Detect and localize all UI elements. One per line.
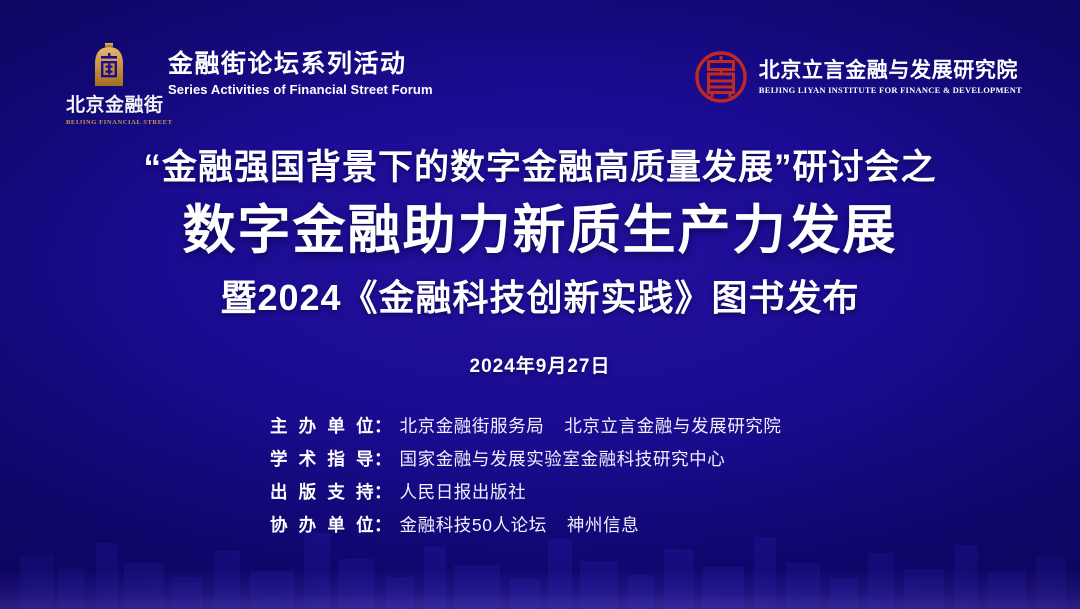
credit-label: 主办单位 — [270, 413, 374, 440]
credit-value: 人民日报出版社 — [400, 479, 527, 506]
bfs-mark: 北京金融街 BEIJING FINANCIAL STREET — [66, 42, 152, 126]
credit-value-item: 北京立言金融与发展研究院 — [564, 416, 781, 436]
credit-row: 协办单位 ： 金融科技50人论坛神州信息 — [270, 512, 810, 539]
round-seal-icon — [694, 50, 748, 104]
forum-title-en: Series Activities of Financial Street Fo… — [168, 82, 433, 97]
page-title: 数字金融助力新质生产力发展 — [0, 198, 1080, 264]
bfs-mark-cn: 北京金融街 — [66, 96, 152, 115]
credit-row: 学术指导 ： 国家金融与发展实验室金融科技研究中心 — [270, 446, 810, 473]
credit-row: 主办单位 ： 北京金融街服务局北京立言金融与发展研究院 — [270, 413, 810, 440]
organizer-credits: 主办单位 ： 北京金融街服务局北京立言金融与发展研究院 学术指导 ： 国家金融与… — [0, 413, 1080, 540]
credit-colon: ： — [374, 446, 392, 473]
credit-colon: ： — [374, 479, 392, 506]
event-series-title: “金融强国背景下的数字金融高质量发展”研讨会之 — [0, 146, 1080, 191]
forum-title-cn: 金融街论坛系列活动 — [168, 50, 433, 79]
credit-label: 出版支持 — [270, 479, 374, 506]
event-poster: 北京金融街 BEIJING FINANCIAL STREET 金融街论坛系列活动… — [0, 0, 1080, 609]
credit-value-item: 国家金融与发展实验室金融科技研究中心 — [400, 449, 726, 469]
book-release-subtitle: 暨2024《金融科技创新实践》图书发布 — [0, 275, 1080, 320]
credit-value: 国家金融与发展实验室金融科技研究中心 — [400, 446, 726, 473]
credit-value: 北京金融街服务局北京立言金融与发展研究院 — [400, 413, 782, 440]
credit-label: 学术指导 — [270, 446, 374, 473]
floor-glow — [0, 569, 1080, 609]
title-block: “金融强国背景下的数字金融高质量发展”研讨会之 数字金融助力新质生产力发展 暨2… — [0, 146, 1080, 378]
credit-value: 金融科技50人论坛神州信息 — [400, 512, 640, 539]
credit-value-item: 北京金融街服务局 — [400, 416, 545, 436]
beijing-financial-street-logo: 北京金融街 BEIJING FINANCIAL STREET 金融街论坛系列活动… — [66, 42, 433, 126]
credit-row: 出版支持 ： 人民日报出版社 — [270, 479, 810, 506]
credit-value-item: 神州信息 — [567, 515, 639, 535]
beijing-liyan-institute-logo: 北京立言金融与发展研究院 BEIJING LIYAN INSTITUTE FOR… — [694, 50, 1022, 104]
bell-seal-icon — [89, 42, 129, 88]
credit-value-item: 金融科技50人论坛 — [400, 515, 547, 535]
liyan-wordmark: 北京立言金融与发展研究院 BEIJING LIYAN INSTITUTE FOR… — [759, 59, 1022, 95]
bfs-wordmark: 金融街论坛系列活动 Series Activities of Financial… — [168, 42, 433, 97]
poster-header: 北京金融街 BEIJING FINANCIAL STREET 金融街论坛系列活动… — [0, 0, 1080, 135]
credit-colon: ： — [374, 413, 392, 440]
credit-colon: ： — [374, 512, 392, 539]
liyan-name-en: BEIJING LIYAN INSTITUTE FOR FINANCE & DE… — [759, 85, 1022, 95]
credit-label: 协办单位 — [270, 512, 374, 539]
liyan-name-cn: 北京立言金融与发展研究院 — [759, 59, 1022, 83]
bfs-mark-en: BEIJING FINANCIAL STREET — [66, 119, 152, 126]
event-date: 2024年9月27日 — [0, 351, 1080, 378]
credit-value-item: 人民日报出版社 — [400, 482, 527, 502]
